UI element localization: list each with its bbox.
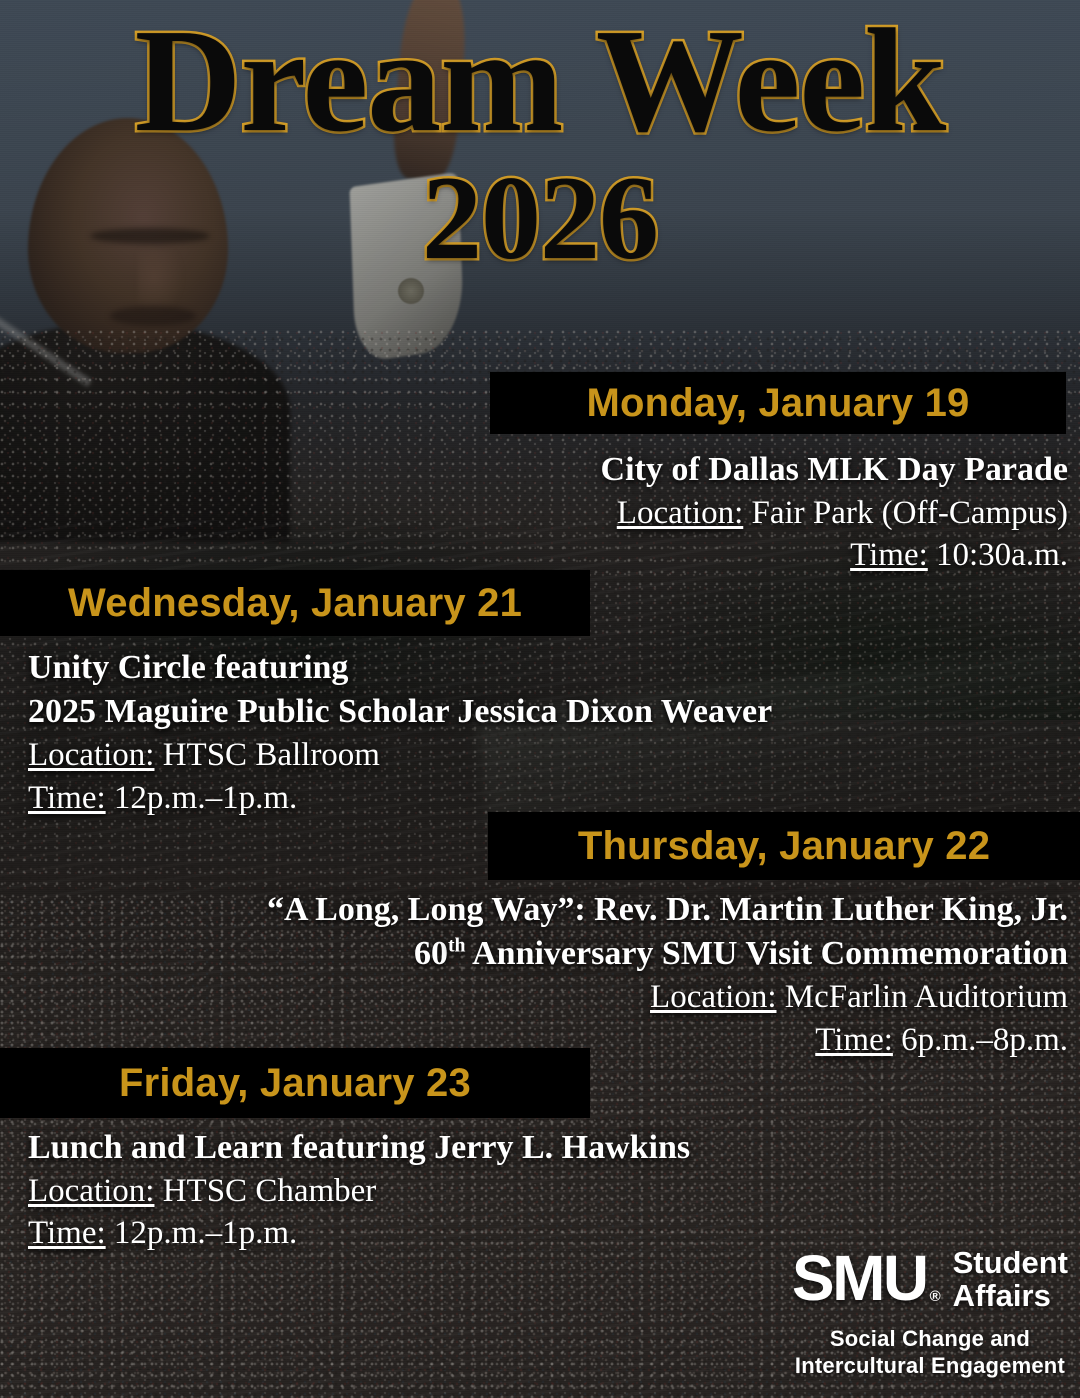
event-location-wednesday: Location: HTSC Ballroom [28,734,988,776]
time-label-friday: Time: [28,1215,106,1251]
unit-name-line-2: Intercultural Engagement [792,1353,1068,1380]
date-label-monday: Monday, January 19 [587,381,970,426]
location-value-friday: HTSC Chamber [163,1173,377,1209]
event-details-monday: City of Dallas MLK Day Parade Location: … [380,448,1068,577]
location-label-friday: Location: [28,1173,154,1209]
event-title-thursday-line-2: 60th Anniversary SMU Visit Commemoration [60,932,1068,976]
time-label-wednesday: Time: [28,780,106,816]
event-title-monday: City of Dallas MLK Day Parade [380,448,1068,492]
event-location-thursday: Location: McFarlin Auditorium [60,976,1068,1018]
event-details-thursday: “A Long, Long Way”: Rev. Dr. Martin Luth… [60,888,1068,1061]
time-label-thursday: Time: [815,1022,893,1058]
smu-student-affairs-logo: SMU® Student Affairs Social Change and I… [792,1246,1068,1380]
time-value-monday: 10:30a.m. [936,537,1068,573]
division-name-line-1: Student [953,1246,1068,1279]
location-value-monday: Fair Park (Off-Campus) [752,495,1069,531]
time-value-thursday: 6p.m.–8p.m. [901,1022,1068,1058]
event-details-wednesday: Unity Circle featuring 2025 Maguire Publ… [28,646,988,819]
location-label-wednesday: Location: [28,737,154,773]
smu-wordmark-text: SMU [792,1242,927,1314]
registered-trademark-icon: ® [930,1290,941,1304]
division-name-line-2: Affairs [953,1279,1068,1312]
event-location-friday: Location: HTSC Chamber [28,1170,928,1212]
location-label-monday: Location: [617,495,743,531]
event-title-friday: Lunch and Learn featuring Jerry L. Hawki… [28,1126,928,1170]
location-label-thursday: Location: [650,979,776,1015]
unit-name: Social Change and Intercultural Engageme… [792,1326,1068,1380]
event-title-wednesday-line-2: 2025 Maguire Public Scholar Jessica Dixo… [28,690,988,734]
anniversary-number: 60 [414,935,448,972]
division-name: Student Affairs [953,1246,1068,1312]
anniversary-ordinal-suffix: th [448,935,466,957]
date-label-friday: Friday, January 23 [119,1061,471,1106]
anniversary-text: Anniversary SMU Visit Commemoration [465,935,1068,972]
date-bar-wednesday: Wednesday, January 21 [0,570,590,636]
unit-name-line-1: Social Change and [792,1326,1068,1353]
logo-lockup: SMU® Student Affairs [792,1246,1068,1312]
location-value-wednesday: HTSC Ballroom [163,737,380,773]
dream-week-poster: Dream Week 2026 Monday, January 19 City … [0,0,1080,1398]
time-value-friday: 12p.m.–1p.m. [114,1215,297,1251]
date-bar-friday: Friday, January 23 [0,1048,590,1118]
event-title-wednesday-line-1: Unity Circle featuring [28,646,988,690]
date-label-thursday: Thursday, January 22 [578,824,990,869]
title-line-1: Dream Week [0,10,1080,152]
location-value-thursday: McFarlin Auditorium [785,979,1068,1015]
smu-wordmark: SMU® [792,1250,939,1308]
poster-title: Dream Week 2026 [0,10,1080,275]
event-details-friday: Lunch and Learn featuring Jerry L. Hawki… [28,1126,928,1255]
title-line-2: 2026 [0,160,1080,275]
date-bar-monday: Monday, January 19 [490,372,1066,434]
date-bar-thursday: Thursday, January 22 [488,812,1080,880]
date-label-wednesday: Wednesday, January 21 [68,581,522,626]
event-title-thursday-line-1: “A Long, Long Way”: Rev. Dr. Martin Luth… [60,888,1068,932]
event-location-monday: Location: Fair Park (Off-Campus) [380,492,1068,534]
time-value-wednesday: 12p.m.–1p.m. [114,780,297,816]
time-label-monday: Time: [850,537,928,573]
